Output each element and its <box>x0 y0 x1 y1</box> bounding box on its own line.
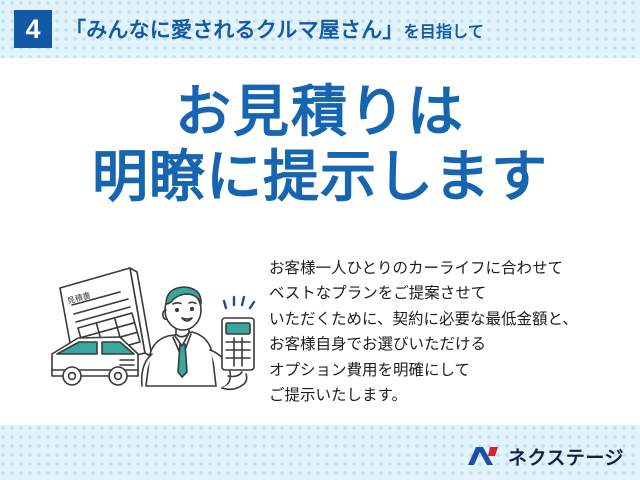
body-copy-line-6: ご提示いたします。 <box>269 383 629 408</box>
brand-name: ネクステージ <box>508 443 624 470</box>
step-number-badge: 4 <box>14 10 52 48</box>
body-copy-line-5: オプション費用を明確にして <box>269 358 629 383</box>
headline: お見積りは 明瞭に提示します <box>0 80 640 210</box>
header-title-tail-text: を目指して <box>404 18 485 42</box>
calculator-icon <box>222 318 254 370</box>
body-copy-line-4: お客様自身でお選びいただける <box>269 332 629 357</box>
nextage-n-logo-icon <box>467 444 501 468</box>
header-title-quoted-text: 「みんなに愛されるクルマ屋さん」 <box>65 14 404 44</box>
headline-line-1: お見積りは <box>0 80 640 144</box>
sparkle-icon <box>224 297 254 308</box>
van-icon <box>52 337 138 385</box>
advertisement-banner: 4 「みんなに愛されるクルマ屋さん」 を目指して お見積りは 明瞭に提示します … <box>0 0 640 480</box>
main-content: お見積りは 明瞭に提示します お客様一人ひとりのカーライフに合わせて ベストなプ… <box>0 58 640 425</box>
body-copy-line-1: お客様一人ひとりのカーライフに合わせて <box>269 256 629 281</box>
salesman-illustration: 見積書 <box>42 258 270 418</box>
header-title: 「みんなに愛されるクルマ屋さん」 を目指して <box>65 14 484 44</box>
brand-logo: ネクステージ <box>467 443 624 469</box>
body-copy-line-3: いただくために、契約に必要な最低金額と、 <box>269 307 629 332</box>
body-copy: お客様一人ひとりのカーライフに合わせて ベストなプランをご提案させて いただくた… <box>269 256 629 408</box>
header: 4 「みんなに愛されるクルマ屋さん」 を目指して <box>0 0 640 58</box>
headline-line-2: 明瞭に提示します <box>0 144 640 210</box>
body-copy-line-2: ベストなプランをご提案させて <box>269 281 629 306</box>
